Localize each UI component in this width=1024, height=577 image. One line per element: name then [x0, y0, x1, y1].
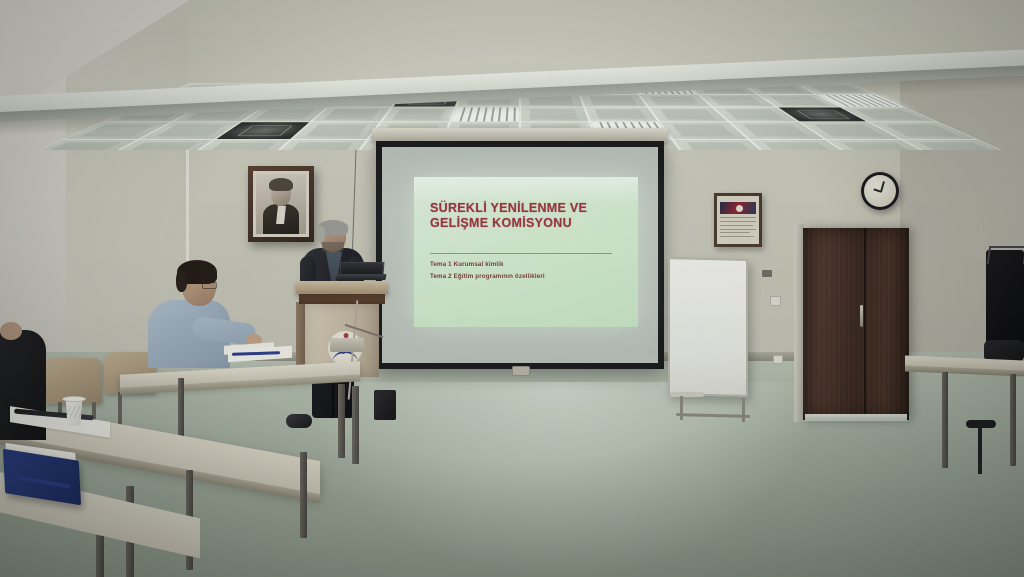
cup-pattern	[66, 406, 82, 418]
presenter-beard	[322, 242, 344, 254]
attendee-hand-partial	[0, 322, 22, 340]
whiteboard[interactable]	[668, 257, 748, 397]
attendee-hair-side	[176, 270, 187, 292]
presenter-hair-side	[317, 226, 325, 242]
laptop-screen	[340, 262, 385, 275]
slide-title: SÜREKLİ YENİLENME VE GELİŞME KOMİSYONU	[430, 201, 620, 232]
table-leg	[300, 452, 307, 538]
slide-bullet-1: Tema 1 Kurumsal kimlik	[430, 261, 504, 268]
presentation-slide: SÜREKLİ YENİLENME VE GELİŞME KOMİSYONU T…	[414, 177, 638, 327]
wooden-door[interactable]	[803, 228, 909, 420]
whiteboard-leg	[742, 398, 745, 422]
floor-equipment-box	[330, 338, 364, 352]
cup-rim	[62, 396, 86, 402]
framed-notice	[714, 193, 762, 247]
laptop[interactable]	[336, 262, 384, 282]
projection-screen: SÜREKLİ YENİLENME VE GELİŞME KOMİSYONU T…	[376, 141, 664, 369]
clock-face	[864, 175, 896, 207]
coat-rack-arms	[987, 246, 1024, 264]
whiteboard-tray	[670, 392, 704, 397]
table-leg	[338, 384, 345, 458]
table-leg	[352, 386, 359, 464]
screen-pull-tab[interactable]	[512, 366, 530, 376]
slide-divider	[430, 253, 612, 254]
light-under-door	[805, 414, 907, 421]
coat-rack	[986, 250, 1024, 346]
door-handle[interactable]	[860, 305, 863, 327]
wall-clock	[861, 172, 899, 210]
slide-glare	[414, 177, 638, 203]
lectern-trim	[299, 294, 385, 304]
slide-title-line-1: SÜREKLİ YENİLENME VE	[430, 201, 620, 216]
whiteboard-clip	[762, 270, 772, 277]
turkish-flag-image	[720, 202, 755, 214]
speaker-box	[374, 390, 396, 420]
projector-screen-housing	[372, 128, 668, 142]
slide-title-line-2: GELİŞME KOMİSYONU	[430, 216, 620, 231]
lectern-top	[296, 281, 388, 294]
door-center-seam	[864, 228, 866, 420]
portrait-hair	[269, 178, 293, 191]
notice-paper	[717, 196, 759, 244]
cord-reel	[286, 414, 312, 428]
meeting-room-photo: SÜREKLİ YENİLENME VE GELİŞME KOMİSYONU T…	[0, 0, 1024, 577]
table-leg	[178, 378, 184, 440]
door-grain	[803, 228, 909, 420]
light-switch[interactable]	[770, 296, 781, 306]
slide-bullet-2: Tema 2 Eğitim programının özellikleri	[430, 273, 545, 280]
ceiling-tile	[902, 139, 1024, 150]
ceiling-tile	[584, 107, 659, 122]
portrait-photo	[256, 174, 306, 234]
power-outlet[interactable]	[773, 355, 783, 364]
whiteboard-leg	[680, 396, 683, 420]
table-leg	[942, 372, 948, 468]
table-leg	[1010, 374, 1016, 466]
chair-leg	[978, 426, 982, 474]
screen-surface: SÜREKLİ YENİLENME VE GELİŞME KOMİSYONU T…	[382, 147, 658, 363]
